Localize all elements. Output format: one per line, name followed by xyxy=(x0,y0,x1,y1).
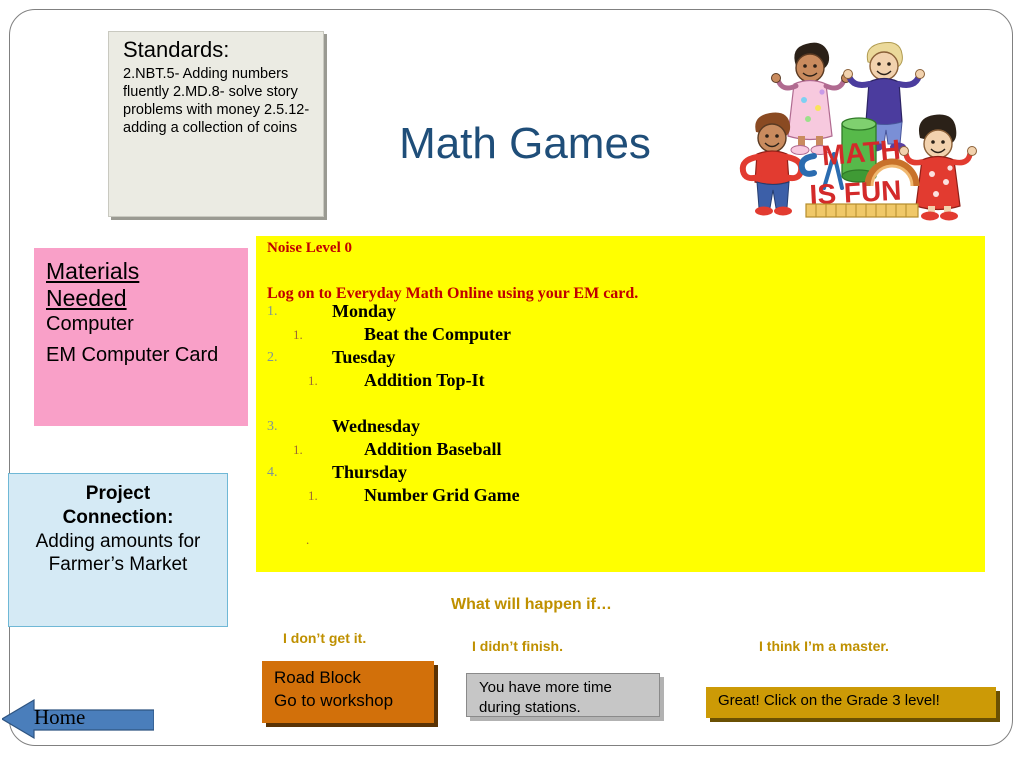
what-will-happen-heading: What will happen if… xyxy=(451,596,612,614)
project-body: Adding amounts for Farmer’s Market xyxy=(9,530,227,578)
road-block-line1: Road Block xyxy=(274,667,434,690)
road-block-line2: Go to workshop xyxy=(274,690,434,713)
prompt-dont-get-it: I don’t get it. xyxy=(283,630,366,646)
project-heading-line2: Connection: xyxy=(9,506,227,530)
grade3-level-button[interactable]: Great! Click on the Grade 3 level! xyxy=(706,687,996,718)
standards-heading: Standards: xyxy=(123,38,313,63)
list-marker: 1. xyxy=(267,304,278,320)
materials-item-em-card: EM Computer Card xyxy=(46,343,238,367)
schedule-list: 1. Monday 1. Beat the Computer 2. Tuesda… xyxy=(256,304,985,511)
logon-instruction: Log on to Everyday Math Online using you… xyxy=(267,285,638,303)
road-block-button[interactable]: Road Block Go to workshop xyxy=(262,661,434,723)
prompt-master: I think I’m a master. xyxy=(759,638,889,654)
list-marker: 2. xyxy=(267,350,278,366)
list-marker: 1. xyxy=(293,327,303,343)
materials-item-computer: Computer xyxy=(46,312,238,336)
list-label: Thursday xyxy=(332,462,407,483)
materials-heading-line1: Materials xyxy=(46,258,238,285)
list-label: Beat the Computer xyxy=(364,324,511,345)
more-time-line1: You have more time xyxy=(479,678,659,698)
list-label: Monday xyxy=(332,301,396,322)
list-marker: 3. xyxy=(267,419,278,435)
list-marker: 1. xyxy=(308,373,318,389)
more-time-note[interactable]: You have more time during stations. xyxy=(466,673,660,717)
standards-body: 2.NBT.5- Adding numbers fluently 2.MD.8-… xyxy=(123,65,313,138)
list-label: Addition Top-It xyxy=(364,370,485,391)
slide-canvas: Standards: 2.NBT.5- Adding numbers fluen… xyxy=(0,0,1024,768)
ruler xyxy=(806,204,918,217)
schedule-row: 1. Number Grid Game xyxy=(256,488,985,511)
prompt-didnt-finish: I didn’t finish. xyxy=(472,638,563,654)
project-heading-line1: Project xyxy=(9,482,227,506)
list-label: Number Grid Game xyxy=(364,485,520,506)
noise-level-label: Noise Level 0 xyxy=(267,240,352,257)
list-marker: 1. xyxy=(293,442,303,458)
list-marker: 4. xyxy=(267,465,278,481)
list-label: Tuesday xyxy=(332,347,395,368)
list-label: Wednesday xyxy=(332,416,420,437)
materials-needed-box: Materials Needed Computer EM Computer Ca… xyxy=(34,248,248,426)
standards-box: Standards: 2.NBT.5- Adding numbers fluen… xyxy=(108,31,324,217)
list-label: Addition Baseball xyxy=(364,439,502,460)
page-title: Math Games xyxy=(330,119,720,169)
trailing-list-marker: . xyxy=(306,532,309,548)
project-connection-box: Project Connection: Adding amounts for F… xyxy=(8,473,228,627)
materials-heading-line2: Needed xyxy=(46,285,238,312)
list-marker: 1. xyxy=(308,488,318,504)
grade3-label: Great! Click on the Grade 3 level! xyxy=(718,692,940,709)
schedule-panel: Noise Level 0 Log on to Everyday Math On… xyxy=(256,236,985,572)
more-time-line2: during stations. xyxy=(479,698,659,718)
home-label: Home xyxy=(34,705,85,730)
math-is-fun-clipart: MATH IS FUN xyxy=(738,26,984,222)
schedule-row: 1. Addition Top-It xyxy=(256,373,985,419)
